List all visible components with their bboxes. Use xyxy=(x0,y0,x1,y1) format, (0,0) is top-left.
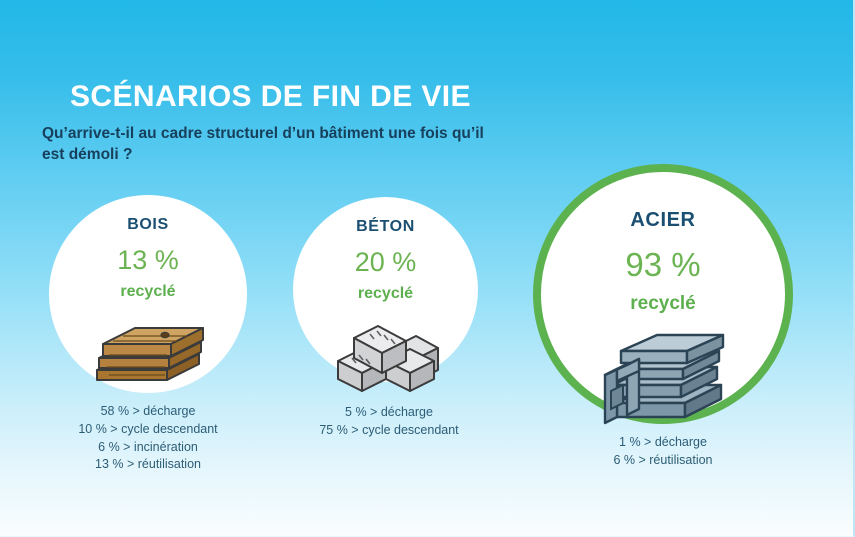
material-card-beton: BÉTON 20 % recyclé xyxy=(293,197,478,382)
wood-planks-icon xyxy=(89,314,207,392)
material-stats-bois: 58 % > décharge 10 % > cycle descendant … xyxy=(49,403,247,474)
material-stats-beton: 5 % > décharge 75 % > cycle descendant xyxy=(293,404,485,440)
material-name-acier: ACIER xyxy=(630,210,695,230)
material-card-acier: ACIER 93 % recyclé xyxy=(533,164,793,424)
material-percent-bois: 13 % xyxy=(117,247,179,274)
page-subtitle: Qu’arrive-t-il au cadre structurel d’un … xyxy=(42,124,502,166)
material-stats-acier: 1 % > décharge 6 % > réutilisation xyxy=(533,434,793,470)
material-circle-beton: BÉTON 20 % recyclé xyxy=(293,197,478,382)
stat-item: 6 % > réutilisation xyxy=(533,452,793,470)
stat-item: 5 % > décharge xyxy=(293,404,485,422)
stat-item: 10 % > cycle descendant xyxy=(49,421,247,439)
steel-beams-icon xyxy=(597,329,729,429)
stat-item: 58 % > décharge xyxy=(49,403,247,421)
page-title: SCÉNARIOS DE FIN DE VIE xyxy=(70,82,562,112)
material-name-bois: BOIS xyxy=(127,217,169,233)
material-percent-beton: 20 % xyxy=(355,249,417,276)
stat-item: 75 % > cycle descendant xyxy=(293,422,485,440)
stat-item: 6 % > incinération xyxy=(49,439,247,457)
material-recycled-label-acier: recyclé xyxy=(630,294,696,313)
stat-item: 1 % > décharge xyxy=(533,434,793,452)
material-recycled-label-bois: recyclé xyxy=(120,284,175,300)
material-circle-bois: BOIS 13 % recyclé xyxy=(49,195,247,393)
material-name-beton: BÉTON xyxy=(356,219,415,235)
concrete-blocks-icon xyxy=(330,314,442,396)
material-card-bois: BOIS 13 % recyclé xyxy=(49,195,247,393)
material-recycled-label-beton: recyclé xyxy=(358,286,413,302)
header-block: SCÉNARIOS DE FIN DE VIE Qu’arrive-t-il a… xyxy=(42,82,562,166)
infographic-canvas: SCÉNARIOS DE FIN DE VIE Qu’arrive-t-il a… xyxy=(0,0,855,537)
stat-item: 13 % > réutilisation xyxy=(49,456,247,474)
material-percent-acier: 93 % xyxy=(625,248,700,281)
material-circle-acier: ACIER 93 % recyclé xyxy=(533,164,793,424)
